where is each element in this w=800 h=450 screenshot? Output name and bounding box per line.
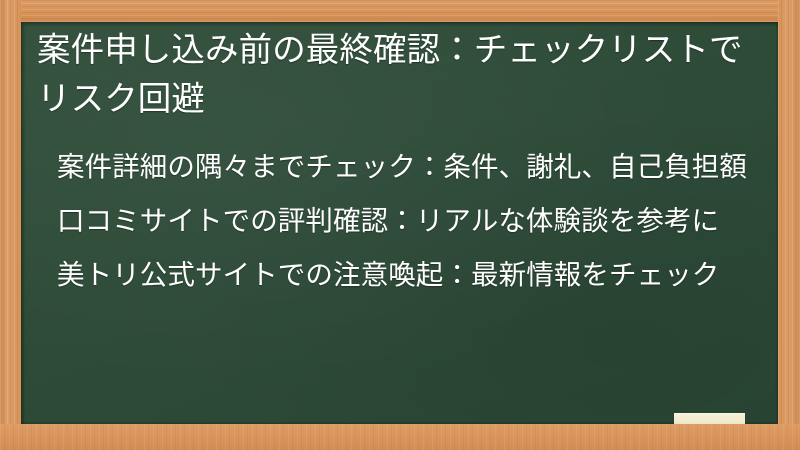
slide-content: 案件申し込み前の最終確認：チェックリストでリスク回避 案件詳細の隅々までチェック… [21,22,778,424]
chalkboard-slide: 案件申し込み前の最終確認：チェックリストでリスク回避 案件詳細の隅々までチェック… [0,0,800,450]
list-item: 美トリ公式サイトでの注意喚起：最新情報をチェック [57,255,751,295]
frame-top-rail [0,0,800,22]
frame-bottom-ledge [0,424,800,450]
chalk-eraser-icon [674,413,745,424]
frame-left-rail [0,0,21,450]
chalkboard-surface: 案件申し込み前の最終確認：チェックリストでリスク回避 案件詳細の隅々までチェック… [21,22,778,424]
frame-right-rail [778,0,800,450]
list-item: 口コミサイトでの評判確認：リアルな体験談を参考に [57,201,751,241]
slide-title: 案件申し込み前の最終確認：チェックリストでリスク回避 [37,26,753,124]
checklist: 案件詳細の隅々までチェック：条件、謝礼、自己負担額 口コミサイトでの評判確認：リ… [57,147,751,295]
list-item: 案件詳細の隅々までチェック：条件、謝礼、自己負担額 [57,147,751,187]
